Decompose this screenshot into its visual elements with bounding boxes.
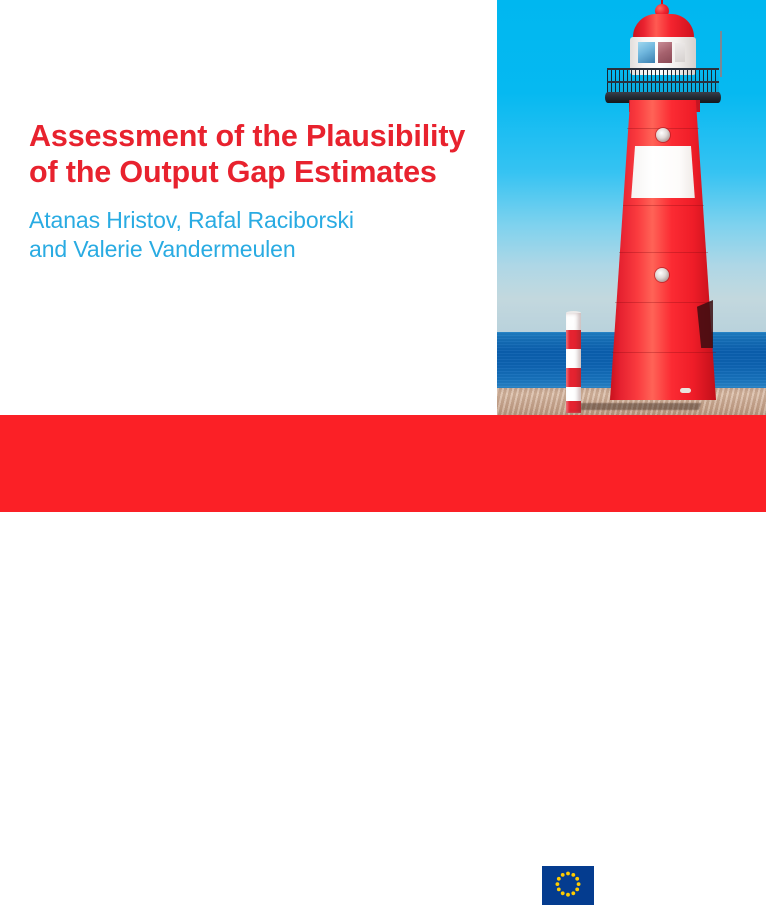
- department-label: Economic and Financial Affairs: [29, 891, 312, 915]
- lamp-room-window: [658, 42, 672, 63]
- lamp-room-window: [638, 42, 655, 63]
- pier-stone: [680, 388, 691, 393]
- tower-seam: [623, 205, 704, 206]
- striped-pole: [566, 313, 581, 413]
- tower-vent-icon: [656, 128, 670, 142]
- author-list: Atanas Hristov, Rafal Raciborski and Val…: [29, 190, 479, 263]
- title-block: Assessment of the Plausibility of the Ou…: [29, 118, 479, 263]
- page-title: Assessment of the Plausibility of the Ou…: [29, 118, 479, 190]
- lighthouse-antenna: [720, 31, 722, 77]
- cover-photo: [497, 0, 766, 415]
- lighthouse-tower: [610, 100, 716, 400]
- tower-seam: [619, 252, 708, 253]
- european-commission-logo: European Commission: [497, 858, 755, 918]
- lamp-room-window: [675, 43, 685, 62]
- footer-banner: Economic and Financial Affairs: [0, 415, 766, 512]
- cover-page: Assessment of the Plausibility of the Ou…: [0, 0, 766, 512]
- lighthouse-gallery-railing: [607, 68, 719, 94]
- lighthouse: [497, 0, 766, 415]
- title-panel: Assessment of the Plausibility of the Ou…: [0, 0, 497, 415]
- tower-vent-icon: [655, 268, 669, 282]
- vertical-bar-icon: [746, 873, 750, 911]
- eu-flag-icon: [542, 866, 594, 905]
- ec-flowing-lines-left-icon: [497, 863, 543, 907]
- tower-seam: [612, 352, 716, 353]
- ec-flowing-lines-right-icon: [595, 858, 639, 914]
- tower-seam: [615, 302, 712, 303]
- ec-organisation-label: European Commission: [641, 873, 738, 911]
